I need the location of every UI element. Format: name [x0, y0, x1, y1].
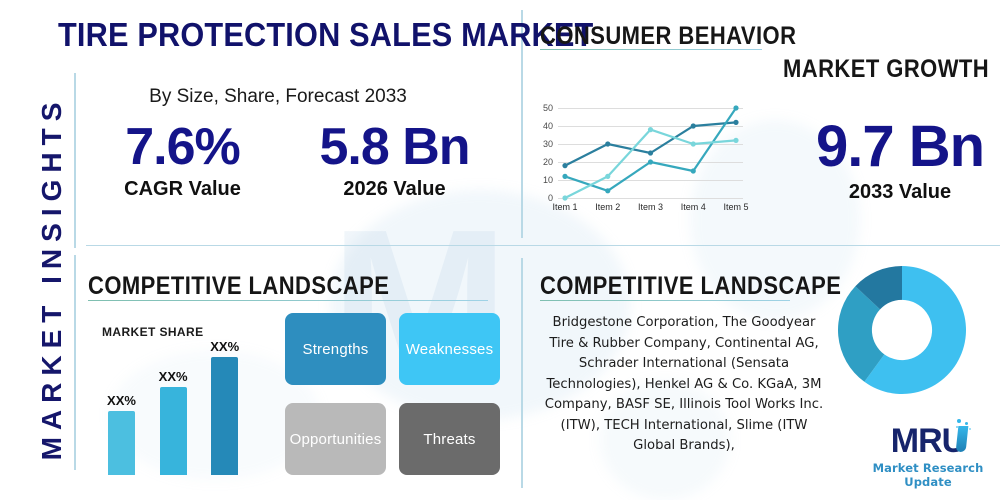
- x-axis-tick-label: Item 1: [552, 202, 577, 212]
- data-point: [733, 120, 738, 125]
- stat-cagr-value: 7.6%: [95, 118, 270, 176]
- swot-box-label: Strengths: [302, 341, 368, 358]
- consumer-behavior-line-chart: 01020304050Item 1Item 2Item 3Item 4Item …: [558, 108, 743, 198]
- data-point: [562, 163, 567, 168]
- market-share-bar-chart: XX%XX%XX%: [108, 335, 253, 475]
- x-axis-tick-label: Item 5: [723, 202, 748, 212]
- stat-2026: 5.8 Bn 2026 Value: [302, 118, 487, 201]
- logo-swoosh-icon: [956, 426, 969, 452]
- divider-vertical-left-col-top: [74, 73, 76, 248]
- bar-value-label: XX%: [159, 369, 188, 384]
- x-axis-tick-label: Item 3: [638, 202, 663, 212]
- stat-2033-label: 2033 Value: [810, 181, 990, 204]
- stat-2033-value: 9.7 Bn: [810, 115, 990, 179]
- section-heading-market-growth: MARKET GROWTH: [783, 55, 989, 84]
- section-heading-competitive-landscape-right: COMPETITIVE LANDSCAPE: [540, 272, 841, 301]
- stat-cagr-label: CAGR Value: [95, 178, 270, 201]
- page-title: TIRE PROTECTION SALES MARKET: [58, 16, 593, 54]
- data-point: [733, 138, 738, 143]
- divider-horizontal-mid: [86, 245, 1000, 246]
- stat-2026-label: 2026 Value: [302, 178, 487, 201]
- y-axis-tick-label: 50: [543, 103, 553, 113]
- swot-box-threats[interactable]: Threats: [399, 403, 500, 475]
- data-point: [691, 123, 696, 128]
- bar: [211, 357, 238, 475]
- swot-box-label: Opportunities: [290, 431, 382, 448]
- data-point: [691, 168, 696, 173]
- company-list: Bridgestone Corporation, The Goodyear Ti…: [540, 313, 828, 457]
- stat-cagr: 7.6% CAGR Value: [95, 118, 270, 201]
- stat-2026-value: 5.8 Bn: [302, 118, 487, 176]
- market-insights-vertical-label: MARKET INSIGHTS: [36, 58, 68, 498]
- data-point: [562, 174, 567, 179]
- data-point: [691, 141, 696, 146]
- section-heading-consumer-behavior: CONSUMER BEHAVIOR: [540, 22, 796, 51]
- logo-mark: MRU: [891, 424, 965, 458]
- swot-box-weaknesses[interactable]: Weaknesses: [399, 313, 500, 385]
- logo-mark-text: MRU: [891, 422, 965, 460]
- data-point: [562, 195, 567, 200]
- data-point: [648, 159, 653, 164]
- gridline: [558, 198, 743, 199]
- data-point: [733, 105, 738, 110]
- logo-tagline: Market Research Update: [858, 461, 998, 489]
- swot-box-label: Weaknesses: [406, 341, 494, 358]
- donut-svg: [838, 266, 966, 394]
- data-point: [648, 150, 653, 155]
- data-point: [605, 141, 610, 146]
- line-series-group: [558, 108, 743, 198]
- swot-box-label: Threats: [423, 431, 475, 448]
- section-heading-competitive-landscape-left: COMPETITIVE LANDSCAPE: [88, 272, 389, 301]
- section-rule-consumer-behavior: [540, 49, 762, 50]
- data-point: [605, 174, 610, 179]
- y-axis-tick-label: 30: [543, 139, 553, 149]
- swot-box-opportunities[interactable]: Opportunities: [285, 403, 386, 475]
- divider-vertical-left-col-bottom: [74, 255, 76, 470]
- swot-matrix: StrengthsWeaknessesOpportunitiesThreats: [285, 313, 500, 475]
- stat-2033: 9.7 Bn 2033 Value: [810, 115, 990, 204]
- section-rule-competitive-landscape-right: [540, 300, 790, 301]
- infographic-canvas: M MARKET INSIGHTS TIRE PROTECTION SALES …: [0, 0, 1000, 500]
- x-axis-tick-label: Item 4: [681, 202, 706, 212]
- bar: [108, 411, 135, 475]
- bar: [160, 387, 187, 475]
- market-share-donut-chart: [838, 266, 966, 394]
- bar-value-label: XX%: [107, 393, 136, 408]
- page-subtitle: By Size, Share, Forecast 2033: [88, 86, 468, 108]
- data-point: [605, 188, 610, 193]
- divider-vertical-center-bottom: [521, 258, 523, 488]
- swot-box-strengths[interactable]: Strengths: [285, 313, 386, 385]
- line-series: [565, 108, 736, 191]
- y-axis-tick-label: 10: [543, 175, 553, 185]
- bar-value-label: XX%: [210, 339, 239, 354]
- logo: MRU Market Research Update: [858, 424, 998, 489]
- y-axis-tick-label: 40: [543, 121, 553, 131]
- x-axis-tick-label: Item 2: [595, 202, 620, 212]
- section-rule-competitive-landscape-left: [88, 300, 488, 301]
- data-point: [648, 127, 653, 132]
- y-axis-tick-label: 20: [543, 157, 553, 167]
